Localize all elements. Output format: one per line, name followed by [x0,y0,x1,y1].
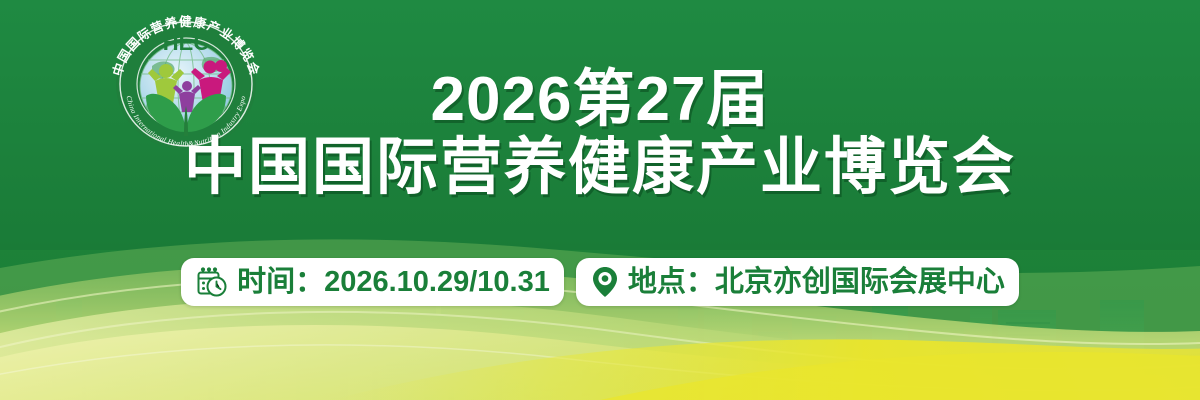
date-text: 时间：2026.10.29/10.31 [237,268,550,297]
expo-logo: HEC [100,14,272,150]
calendar-clock-icon [195,265,229,299]
map-pin-icon [590,265,620,299]
date-pill: 时间：2026.10.29/10.31 [181,258,564,306]
logo-svg: HEC [100,14,272,150]
logo-hec-text: HEC [163,30,210,55]
venue-pill: 地点：北京亦创国际会展中心 [576,258,1019,306]
info-bar: 时间：2026.10.29/10.31 地点：北京亦创国际会展中心 [0,258,1200,306]
venue-text: 地点：北京亦创国际会展中心 [628,268,1005,297]
expo-banner: HEC [0,0,1200,400]
